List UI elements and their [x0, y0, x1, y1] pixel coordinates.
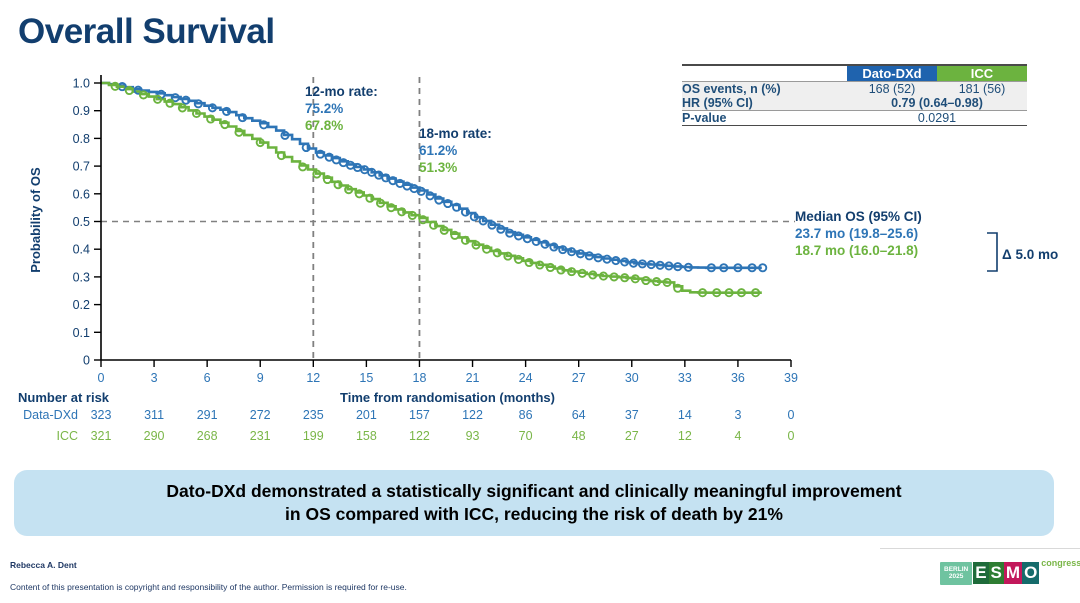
risk-cell: 323	[83, 408, 119, 422]
slide-root: Overall Survival Dato-DXd ICC OS events,…	[0, 0, 1080, 603]
annotation-18mo-icc: 51.3%	[419, 159, 492, 176]
os-events-dato: 168 (52)	[847, 82, 937, 97]
svg-text:39: 39	[784, 371, 798, 385]
km-survival-chart: 00.10.20.30.40.50.60.70.80.91.0 03691215…	[0, 55, 830, 385]
svg-text:24: 24	[519, 371, 533, 385]
y-axis-title: Probability of OS	[28, 167, 43, 273]
annotation-18mo-rate: 18-mo rate: 61.2% 51.3%	[419, 125, 492, 176]
annotation-median-os: Median OS (95% CI) 23.7 mo (19.8–25.6) 1…	[795, 208, 922, 259]
esmo-letter-o: O	[1022, 562, 1039, 584]
stats-header-dato: Dato-DXd	[847, 66, 937, 82]
svg-text:9: 9	[257, 371, 264, 385]
annotation-18mo-dato: 61.2%	[419, 142, 492, 159]
risk-cell: 291	[189, 408, 225, 422]
svg-text:0.3: 0.3	[73, 270, 90, 284]
risk-row-label-dato: Data-DXd	[0, 408, 78, 422]
x-axis-tick-labels: 036912151821242730333639	[98, 360, 798, 385]
svg-text:21: 21	[466, 371, 480, 385]
footer-divider	[880, 548, 1080, 549]
svg-text:0.9: 0.9	[73, 104, 90, 118]
reference-lines	[101, 77, 795, 360]
svg-text:33: 33	[678, 371, 692, 385]
risk-cell: 27	[614, 429, 650, 443]
x-axis-title: Time from randomisation (months)	[340, 390, 555, 405]
svg-text:15: 15	[359, 371, 373, 385]
esmo-letter-m: M	[1004, 562, 1022, 584]
risk-cell: 12	[667, 429, 703, 443]
footer-copyright: Content of this presentation is copyrigh…	[10, 582, 407, 592]
svg-text:12: 12	[306, 371, 320, 385]
risk-cell: 201	[348, 408, 384, 422]
esmo-letter-e: E	[973, 562, 988, 584]
svg-text:18: 18	[413, 371, 427, 385]
stats-header-icc: ICC	[937, 66, 1027, 82]
svg-text:27: 27	[572, 371, 586, 385]
risk-cell: 290	[136, 429, 172, 443]
risk-cell: 4	[720, 429, 756, 443]
esmo-congress-logo: BERLIN 2025 E S M O congress	[940, 558, 1080, 588]
risk-cell: 37	[614, 408, 650, 422]
svg-text:0.8: 0.8	[73, 132, 90, 146]
risk-cell: 48	[561, 429, 597, 443]
conclusion-line-1: Dato-DXd demonstrated a statistically si…	[166, 481, 901, 501]
delta-label: Δ 5.0 mo	[1002, 247, 1058, 262]
esmo-badge-city: BERLIN	[944, 566, 968, 573]
number-at-risk-title: Number at risk	[18, 390, 109, 405]
risk-cell: 93	[455, 429, 491, 443]
svg-text:0.5: 0.5	[73, 215, 90, 229]
svg-text:36: 36	[731, 371, 745, 385]
risk-cell: 199	[295, 429, 331, 443]
risk-cell: 122	[455, 408, 491, 422]
esmo-badge-year: 2025	[949, 573, 963, 580]
hr-value: 0.79 (0.64–0.98)	[847, 96, 1027, 111]
risk-row-label-icc: ICC	[0, 429, 78, 443]
svg-text:0: 0	[83, 354, 90, 368]
risk-cell: 70	[508, 429, 544, 443]
risk-cell: 86	[508, 408, 544, 422]
median-os-title: Median OS (95% CI)	[795, 208, 922, 225]
svg-text:0.2: 0.2	[73, 298, 90, 312]
risk-cell: 231	[242, 429, 278, 443]
footer-author: Rebecca A. Dent	[10, 560, 77, 570]
conclusion-banner: Dato-DXd demonstrated a statistically si…	[14, 470, 1054, 536]
risk-cell: 14	[667, 408, 703, 422]
annotation-12mo-icc: 67.8%	[305, 117, 378, 134]
svg-text:0.1: 0.1	[73, 326, 90, 340]
conclusion-line-2: in OS compared with ICC, reducing the ri…	[285, 504, 783, 524]
esmo-congress-word: congress	[1041, 558, 1080, 568]
risk-cell: 235	[295, 408, 331, 422]
annotation-12mo-title: 12-mo rate:	[305, 83, 378, 100]
annotation-12mo-rate: 12-mo rate: 75.2% 67.8%	[305, 83, 378, 134]
svg-text:0.4: 0.4	[73, 243, 90, 257]
delta-bracket-icon	[986, 231, 1002, 273]
risk-cell: 321	[83, 429, 119, 443]
risk-cell: 3	[720, 408, 756, 422]
median-os-icc: 18.7 mo (16.0–21.8)	[795, 242, 922, 259]
svg-text:0.6: 0.6	[73, 187, 90, 201]
annotation-18mo-title: 18-mo rate:	[419, 125, 492, 142]
risk-cell: 311	[136, 408, 172, 422]
page-title: Overall Survival	[18, 12, 275, 52]
risk-cell: 272	[242, 408, 278, 422]
risk-cell: 0	[773, 408, 809, 422]
risk-cell: 122	[401, 429, 437, 443]
svg-text:0.7: 0.7	[73, 160, 90, 174]
esmo-berlin-badge: BERLIN 2025	[940, 562, 972, 585]
svg-text:6: 6	[204, 371, 211, 385]
censor-marks	[112, 83, 767, 297]
risk-cell: 268	[189, 429, 225, 443]
svg-text:30: 30	[625, 371, 639, 385]
annotation-12mo-dato: 75.2%	[305, 100, 378, 117]
risk-cell: 158	[348, 429, 384, 443]
esmo-letters: E S M O	[973, 562, 1039, 584]
risk-cell: 157	[401, 408, 437, 422]
esmo-letter-s: S	[989, 562, 1004, 584]
svg-text:1.0: 1.0	[73, 77, 90, 91]
y-axis-tick-labels: 00.10.20.30.40.50.60.70.80.91.0	[73, 77, 101, 368]
risk-cell: 0	[773, 429, 809, 443]
svg-text:0: 0	[98, 371, 105, 385]
pvalue-value: 0.0291	[847, 111, 1027, 126]
conclusion-text: Dato-DXd demonstrated a statistically si…	[146, 480, 921, 526]
median-os-dato: 23.7 mo (19.8–25.6)	[795, 225, 922, 242]
os-events-icc: 181 (56)	[937, 82, 1027, 97]
risk-cell: 64	[561, 408, 597, 422]
svg-text:3: 3	[151, 371, 158, 385]
